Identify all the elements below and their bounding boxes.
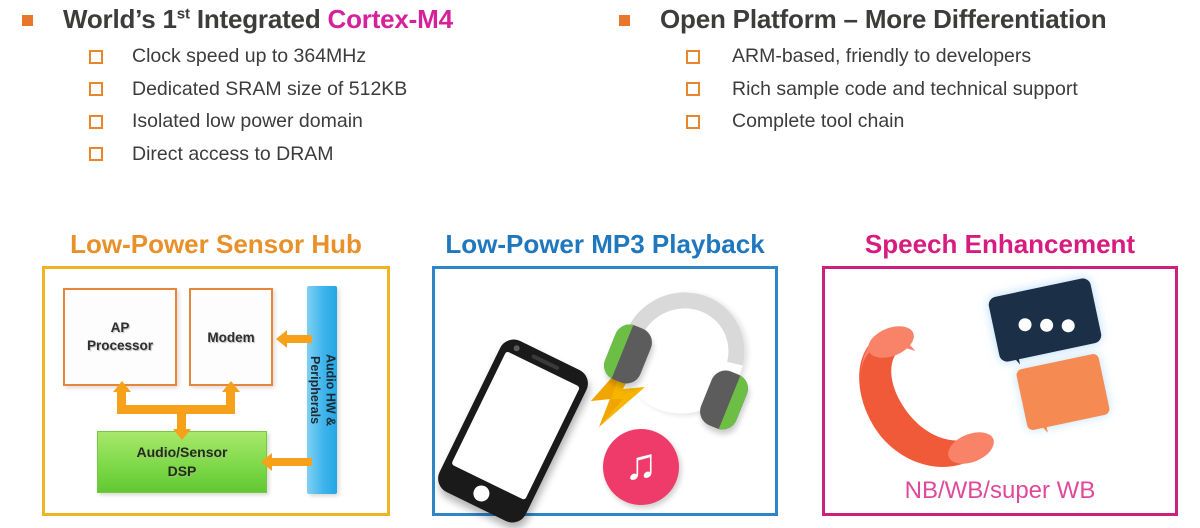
square-bullet-icon xyxy=(619,15,630,26)
bullet-list-right: ARM-based, friendly to developers Rich s… xyxy=(686,46,1200,132)
heading-accent: Cortex-M4 xyxy=(328,4,453,34)
connector-bus-horizontal xyxy=(117,405,235,414)
checkbox-icon xyxy=(89,147,103,161)
music-note-badge-icon: ♫ xyxy=(603,429,679,505)
list-item-label: Direct access to DRAM xyxy=(132,144,334,165)
heading-prefix: World’s 1 xyxy=(63,4,177,34)
list-item-label: Complete tool chain xyxy=(732,111,904,132)
connector-modem-stem xyxy=(226,391,235,409)
list-item: Rich sample code and technical support xyxy=(686,79,1200,100)
list-item-label: Clock speed up to 364MHz xyxy=(132,46,366,67)
checkbox-icon xyxy=(686,50,700,64)
list-item-label: Dedicated SRAM size of 512KB xyxy=(132,79,407,100)
bubble-dot-icon xyxy=(1038,317,1053,332)
page-title-left: World’s 1st Integrated Cortex-M4 xyxy=(63,6,453,33)
heading-superscript: st xyxy=(177,5,190,22)
panel-low-power-mp3-playback: Low-Power MP3 Playback ♫ xyxy=(432,266,778,516)
speech-bubble-dark-tail-icon xyxy=(996,343,1020,369)
list-item-label: Isolated low power domain xyxy=(132,111,363,132)
music-note-glyph: ♫ xyxy=(625,443,658,487)
panel-title-mp3-playback: Low-Power MP3 Playback xyxy=(435,229,775,260)
feature-columns: World’s 1st Integrated Cortex-M4 Clock s… xyxy=(0,0,1200,210)
phone-camera-icon xyxy=(513,344,521,352)
panel-title-speech-enhancement: Speech Enhancement xyxy=(825,229,1175,260)
list-item: Clock speed up to 364MHz xyxy=(89,46,600,67)
column-heading-row: Open Platform – More Differentiation xyxy=(619,6,1200,33)
smartphone-icon xyxy=(433,334,593,527)
checkbox-icon xyxy=(89,50,103,64)
page-title-right: Open Platform – More Differentiation xyxy=(660,6,1106,33)
bubble-dot-icon xyxy=(1017,317,1032,332)
block-bus-label: Audio HW & Peripherals xyxy=(306,354,337,426)
speech-caption: NB/WB/super WB xyxy=(825,477,1175,505)
arrowhead-up-ap-icon xyxy=(113,381,131,392)
arrowhead-down-dsp-icon xyxy=(173,429,191,440)
phone-home-button-icon xyxy=(471,483,492,504)
list-item-label: Rich sample code and technical support xyxy=(732,79,1078,100)
checkbox-icon xyxy=(686,115,700,129)
checkbox-icon xyxy=(686,82,700,96)
panel-low-power-sensor-hub: Low-Power Sensor Hub AP Processor Modem … xyxy=(42,266,390,516)
block-ap-processor: AP Processor xyxy=(63,288,177,386)
column-open-platform: Open Platform – More Differentiation ARM… xyxy=(600,0,1200,210)
connector-ap-stem xyxy=(117,391,126,409)
block-dsp-line1: Audio/Sensor xyxy=(136,443,227,462)
block-ap-line2: Processor xyxy=(87,337,153,355)
list-item: Isolated low power domain xyxy=(89,111,600,132)
column-heading-row: World’s 1st Integrated Cortex-M4 xyxy=(22,6,600,33)
block-modem-label: Modem xyxy=(207,330,254,345)
connector-dsp-stem xyxy=(177,409,186,431)
list-item: Dedicated SRAM size of 512KB xyxy=(89,79,600,100)
bubble-dot-icon xyxy=(1060,318,1075,333)
checkbox-icon xyxy=(89,115,103,129)
heading-middle: Integrated xyxy=(190,4,328,34)
arrowhead-left-modem-icon xyxy=(276,330,287,348)
block-modem: Modem xyxy=(189,288,273,386)
block-dsp-line2: DSP xyxy=(168,462,197,481)
column-cortex-m4: World’s 1st Integrated Cortex-M4 Clock s… xyxy=(0,0,600,210)
block-audio-sensor-dsp: Audio/Sensor DSP xyxy=(97,431,267,493)
list-item: Direct access to DRAM xyxy=(89,144,600,165)
arrowhead-left-dsp-icon xyxy=(261,453,272,471)
speech-bubble-orange-tail-icon xyxy=(1025,413,1048,437)
list-item: ARM-based, friendly to developers xyxy=(686,46,1200,67)
square-bullet-icon xyxy=(22,15,33,26)
phone-screen xyxy=(451,351,580,500)
block-ap-line1: AP xyxy=(111,319,130,337)
list-item: Complete tool chain xyxy=(686,111,1200,132)
panel-speech-enhancement: Speech Enhancement NB/WB/super WB xyxy=(822,266,1178,516)
connector-dsp-to-bus xyxy=(267,458,312,466)
bullet-list-left: Clock speed up to 364MHz Dedicated SRAM … xyxy=(89,46,600,165)
panel-title-sensor-hub: Low-Power Sensor Hub xyxy=(45,229,387,260)
arrowhead-up-modem-icon xyxy=(222,381,240,392)
checkbox-icon xyxy=(89,82,103,96)
list-item-label: ARM-based, friendly to developers xyxy=(732,46,1031,67)
